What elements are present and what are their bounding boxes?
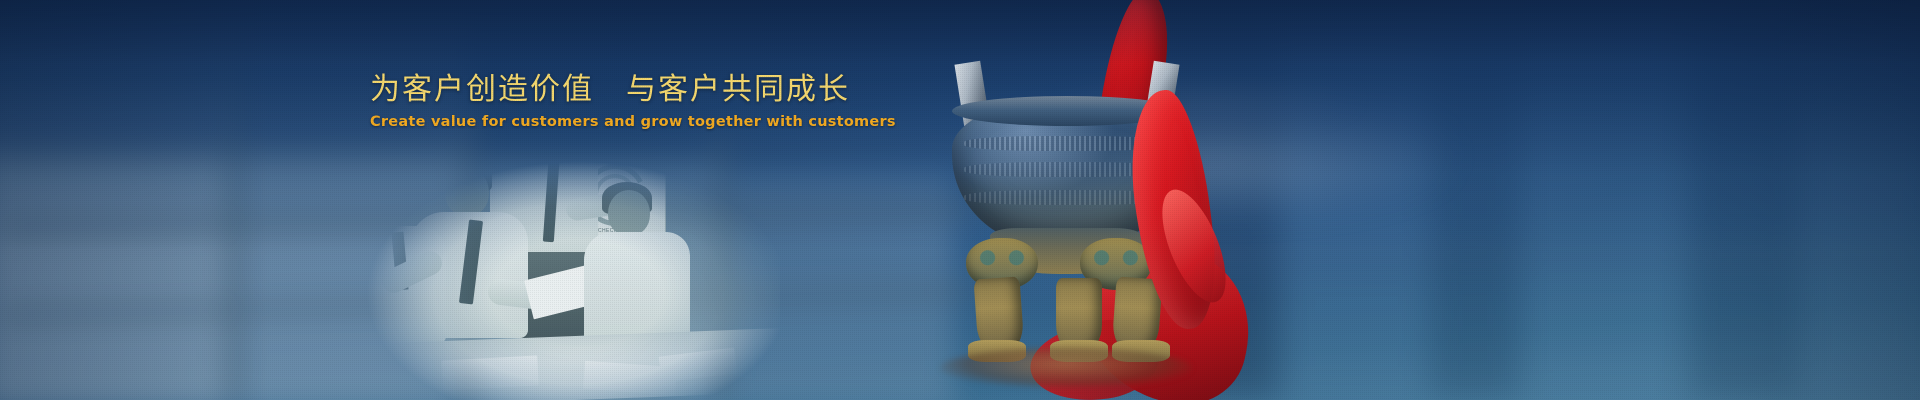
banner-headline: 为客户创造价值 与客户共同成长 bbox=[370, 72, 930, 107]
red-silk-ribbon-foreground bbox=[1020, 0, 1380, 400]
business-team-meeting-photo: PLAN CHECK bbox=[360, 120, 780, 400]
banner-subheadline: Create value for customers and grow toge… bbox=[370, 114, 930, 130]
hero-banner: PLAN CHECK bbox=[0, 0, 1920, 400]
pdca-label-plan: PLAN bbox=[610, 154, 625, 160]
document-sheet bbox=[441, 356, 538, 391]
banner-copy: 为客户创造价值 与客户共同成长 Create value for custome… bbox=[370, 72, 930, 130]
